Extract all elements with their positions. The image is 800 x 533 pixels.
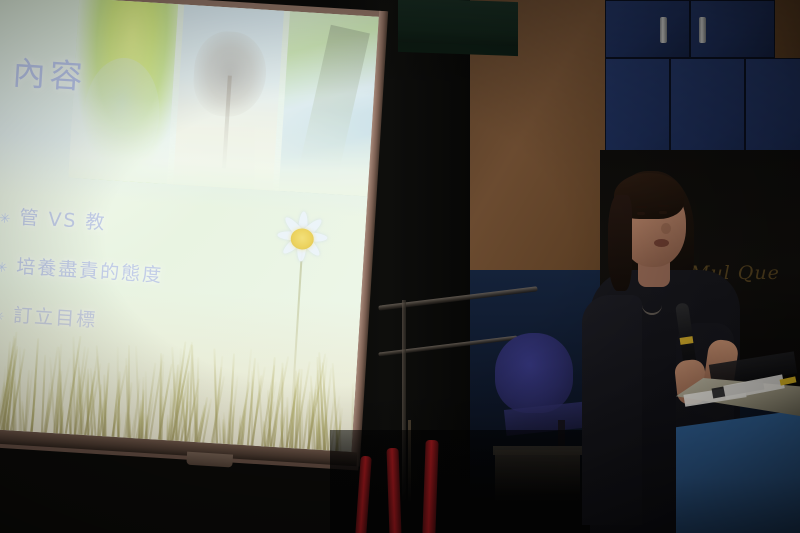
cabinet-handle-icon [660,17,667,43]
cabinet-door[interactable] [690,0,775,58]
bullet-label: 管 VS 教 [19,203,108,235]
photo-strip-fade [68,0,379,197]
grass-blade [159,395,161,440]
screen-pull-handle[interactable] [186,452,233,468]
eye [637,212,645,215]
bullet-marker-icon: ✳ [0,210,11,227]
cabinet-handle-icon [699,17,706,43]
projection-screen: 內容 ✳ 管 VS 教 ✳ 培養盡責的態度 ✳ 訂立目標 [0,0,387,470]
presentation-scene: Mul Que 內容 ✳ 管 VS 教 [0,0,800,533]
screen-surface: 內容 ✳ 管 VS 教 ✳ 培養盡責的態度 ✳ 訂立目標 [0,0,379,452]
podium [676,378,800,533]
eyebrow [636,206,647,208]
office-chair-back[interactable] [495,333,573,413]
necklace [642,295,662,315]
slide-title: 內容 [11,46,88,99]
cabinet-door[interactable] [605,0,690,58]
hair-side [608,195,632,291]
mouth [654,239,669,247]
eye [659,211,667,214]
grass-blade [291,419,293,448]
left-shoulder [582,295,642,525]
nose [661,223,671,234]
eyebrow [658,205,669,207]
podium-front-panel [676,410,800,533]
slide-photo-strip [68,0,379,197]
bullet-marker-icon: ✳ [0,259,8,276]
slide-grass [0,277,361,452]
